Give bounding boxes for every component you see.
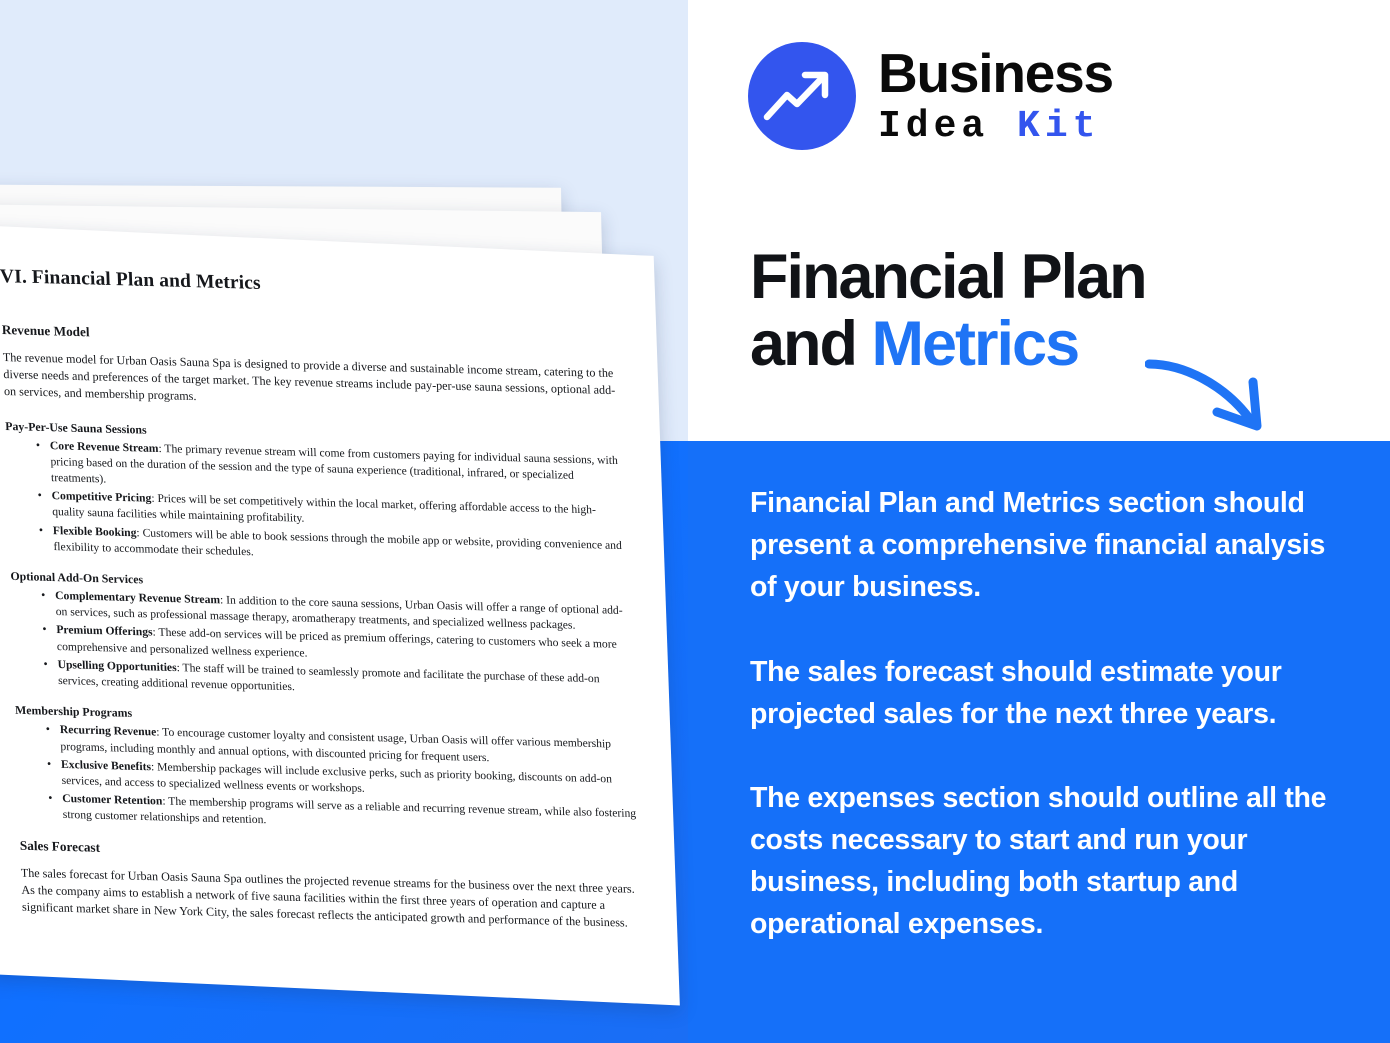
- list-item-term: Competitive Pricing: [51, 489, 151, 505]
- brand-idea-text: Idea: [878, 105, 989, 148]
- document-content: VI. Financial Plan and Metrics Revenue M…: [0, 231, 677, 933]
- document-title: VI. Financial Plan and Metrics: [0, 266, 619, 304]
- brand-kit-text: Kit: [1017, 105, 1100, 148]
- description-paragraph: Financial Plan and Metrics section shoul…: [750, 482, 1350, 609]
- brand-wordmark: Business Idea Kit: [878, 46, 1113, 146]
- list-item-term: Exclusive Benefits: [61, 758, 151, 773]
- list-item-term: Core Revenue Stream: [50, 439, 159, 455]
- brand-name-line2: Idea Kit: [878, 108, 1113, 146]
- document-bullet-list: Complementary Revenue Stream: In additio…: [11, 587, 633, 705]
- sales-forecast-paragraph: The sales forecast for Urban Oasis Sauna…: [21, 864, 642, 932]
- description-paragraph: The expenses section should outline all …: [750, 777, 1350, 946]
- list-item-term: Customer Retention: [62, 792, 163, 808]
- list-item-term: Flexible Booking: [53, 524, 137, 539]
- growth-chart-circle-icon: [748, 42, 856, 150]
- list-item-term: Premium Offerings: [56, 624, 153, 640]
- brand-logo[interactable]: Business Idea Kit: [748, 42, 1113, 150]
- document-sections: Pay-Per-Use Sauna SessionsCore Revenue S…: [5, 418, 638, 838]
- headline-line-2-prefix: and: [750, 309, 872, 379]
- headline-line-2-accent: Metrics: [872, 309, 1079, 379]
- description-paragraph: The sales forecast should estimate your …: [750, 651, 1350, 735]
- list-item-term: Complementary Revenue Stream: [55, 589, 220, 606]
- brand-name-line1: Business: [878, 46, 1113, 101]
- document-bullet-list: Core Revenue Stream: The primary revenue…: [6, 436, 629, 570]
- description-text-block: Financial Plan and Metrics section shoul…: [750, 482, 1350, 946]
- list-item-term: Recurring Revenue: [60, 723, 157, 739]
- revenue-model-heading: Revenue Model: [2, 322, 622, 354]
- document-bullet-list: Recurring Revenue: To encourage customer…: [16, 721, 638, 839]
- list-item-term: Upselling Opportunities: [57, 658, 176, 674]
- sales-forecast-heading: Sales Forecast: [20, 837, 640, 869]
- headline-line-1: Financial Plan: [750, 242, 1146, 312]
- document-page-front: VI. Financial Plan and Metrics Revenue M…: [0, 225, 680, 1006]
- poster-canvas: VI Re The inco stre Pay VI Re The inco s…: [0, 0, 1390, 1043]
- revenue-model-paragraph: The revenue model for Urban Oasis Sauna …: [3, 349, 624, 417]
- document-stack: VI Re The inco stre Pay VI Re The inco s…: [0, 150, 750, 970]
- page-title: Financial Plan and Metrics: [750, 244, 1370, 379]
